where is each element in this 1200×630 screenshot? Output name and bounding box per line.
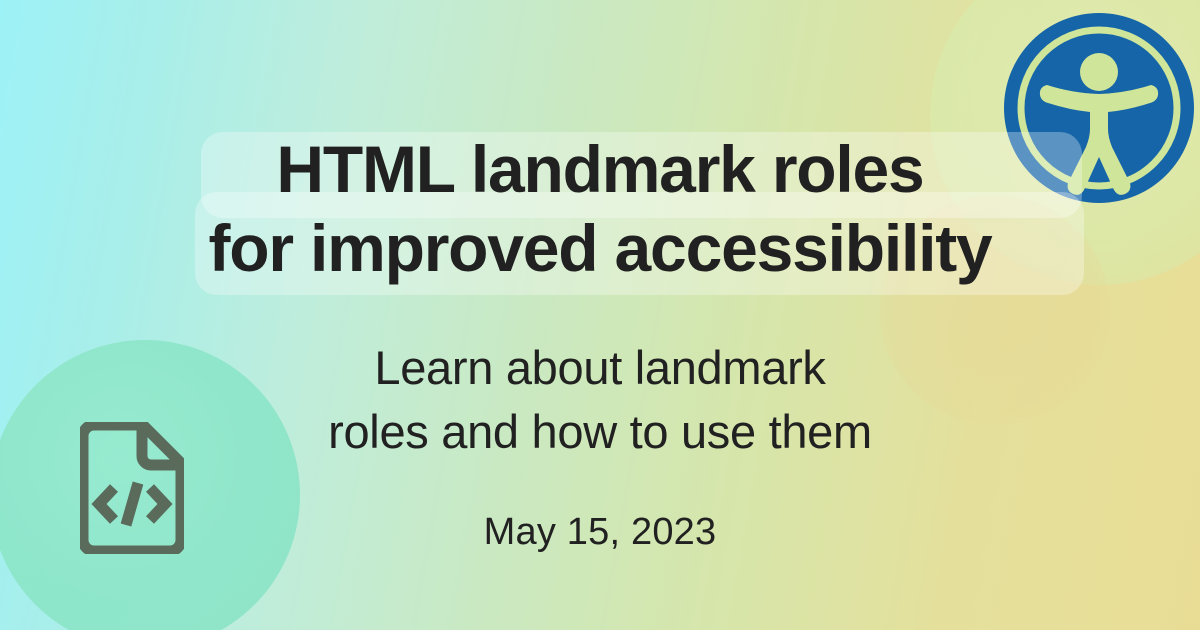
publish-date: May 15, 2023 (0, 508, 1200, 556)
page-subtitle: Learn about landmark roles and how to us… (0, 336, 1200, 464)
og-card: HTML landmark roles for improved accessi… (0, 0, 1200, 630)
title-container: HTML landmark roles for improved accessi… (0, 130, 1200, 288)
title-highlight-plate: HTML landmark roles for improved accessi… (198, 130, 1001, 288)
page-title: HTML landmark roles for improved accessi… (198, 130, 1001, 288)
